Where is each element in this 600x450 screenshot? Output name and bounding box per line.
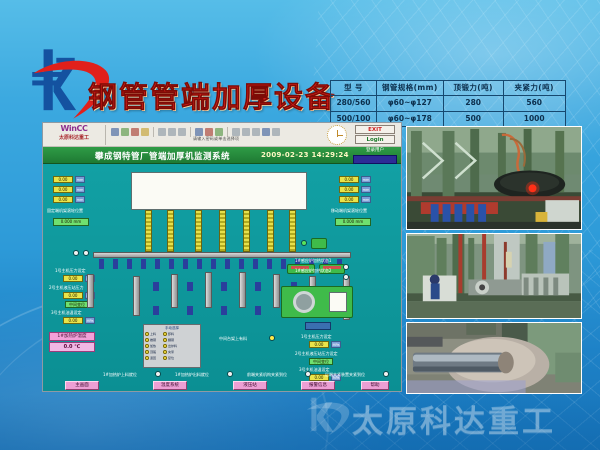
fitting-3 xyxy=(221,282,227,291)
press-caption-3: 3号主机油温设定 xyxy=(51,310,82,315)
switch-label: 推钢 xyxy=(150,338,156,342)
press-value-3[interactable]: 0.00 xyxy=(63,317,83,324)
valve-lamp-2 xyxy=(83,250,89,256)
undo-icon[interactable] xyxy=(195,128,203,136)
cylinder-2 xyxy=(133,276,140,316)
fitting-2 xyxy=(187,282,193,291)
cylinder-4 xyxy=(205,272,212,308)
hydraulic-block xyxy=(305,322,331,330)
center-stock-lamp xyxy=(269,335,275,341)
status-label-2: 1#感应炉加热状态2 xyxy=(295,268,331,273)
switch-lamp-icon xyxy=(145,356,149,360)
right-press-value-2: 中间变位 xyxy=(309,358,333,365)
nav-button-main[interactable]: 主画面 xyxy=(65,381,99,390)
roller-9 xyxy=(211,259,216,269)
roller-7 xyxy=(183,259,188,269)
hmi-process-canvas[interactable]: 0.00 mm 0.00 mm 0.00 mm 固定端机架滚轮位置 0.000 … xyxy=(43,164,401,391)
roller-8 xyxy=(197,259,202,269)
spec-header-size: 钢管规格(mm) xyxy=(377,81,444,96)
roller-6 xyxy=(169,259,174,269)
wincc-logo: WinCC 太原科达重工 xyxy=(46,124,102,146)
left-pos-unit-1: mm xyxy=(75,176,85,183)
press-value-2[interactable]: 0.00 xyxy=(63,292,83,299)
photo-pipe-end xyxy=(406,322,582,394)
switch-lamp-icon xyxy=(163,344,167,348)
hmi-datetime: 2009-02-23 14:29:24 xyxy=(261,151,349,159)
status-lamp-2 xyxy=(343,274,349,280)
fitting-6 xyxy=(153,306,159,315)
hmi-screenshot: WinCC 太原科达重工 请输入密码或单击选择项 xyxy=(42,122,402,392)
layer-icon[interactable] xyxy=(242,128,250,136)
upsetter-ring-icon xyxy=(293,291,315,313)
bottom-status-label-1: 1#加热炉上料就位 xyxy=(103,372,137,377)
switch-label: 上料 xyxy=(150,332,156,336)
zoom-icon[interactable] xyxy=(215,128,223,136)
switch-lamp-icon xyxy=(163,356,167,360)
right-group-caption: 移动端机架滚轮位置 xyxy=(331,208,367,213)
bottom-status-lamp-3 xyxy=(305,371,311,377)
left-group-readout: 0.000 mm xyxy=(53,218,89,226)
spec-r0-model: 280/560 xyxy=(331,96,377,111)
fitting-1 xyxy=(153,282,159,291)
motor-status-lamp xyxy=(301,240,307,246)
heating-column-6 xyxy=(267,210,274,252)
heating-column-4 xyxy=(219,210,226,252)
press-value-1[interactable]: 0.00 xyxy=(63,275,83,282)
hmi-company-label: 太原科达重工 xyxy=(46,134,102,142)
right-press-unit-1: MPa xyxy=(331,341,341,348)
roller-14 xyxy=(281,259,286,269)
spec-header-model: 型 号 xyxy=(331,81,377,96)
open-folder-icon[interactable] xyxy=(121,128,129,136)
valve-lamp-1 xyxy=(73,250,79,256)
left-pos-value-2[interactable]: 0.00 xyxy=(53,186,73,193)
press-caption-2: 2号主机液压站压力 xyxy=(49,285,84,290)
cut-icon[interactable] xyxy=(158,128,166,136)
spec-header-upset: 顶锻力(吨) xyxy=(443,81,503,96)
spec-r0-size: φ60~φ127 xyxy=(377,96,444,111)
switch-label: 退回 xyxy=(150,356,156,360)
right-pos-value-3[interactable]: 0.00 xyxy=(339,196,359,203)
heating-column-7 xyxy=(289,210,296,252)
heating-column-3 xyxy=(195,210,202,252)
switch-lamp-icon xyxy=(163,338,167,342)
left-pos-unit-2: mm xyxy=(75,186,85,193)
bottom-status-label-2: 1#加热炉出料就位 xyxy=(175,372,209,377)
hmi-title-bar: 攀成钢特管厂管端加厚机监测系统 2009-02-23 14:29:24 登录用户 xyxy=(43,147,401,164)
bottom-status-lamp-1 xyxy=(155,371,161,377)
table-row: 280/560 φ60~φ127 280 560 xyxy=(331,96,566,111)
switch-label: 卸料 xyxy=(168,332,174,336)
switch-lamp-icon xyxy=(145,338,149,342)
toolbar-hint-text: 请输入密码或单击选择项 xyxy=(193,136,239,142)
new-file-icon[interactable] xyxy=(111,128,119,136)
toolbar-divider xyxy=(105,125,106,145)
switch-lamp-icon xyxy=(163,332,167,336)
heating-column-2 xyxy=(167,210,174,252)
hmi-user-field[interactable] xyxy=(353,155,397,164)
toolbar-separator-2 xyxy=(190,127,191,137)
right-pos-unit-3: mm xyxy=(361,196,371,203)
settings-icon[interactable] xyxy=(252,128,260,136)
furnace-body xyxy=(131,172,307,210)
right-press-caption-1: 1号主机压力设定 xyxy=(301,334,332,339)
press-unit-3: MPa xyxy=(85,317,95,324)
bottom-band xyxy=(0,394,600,450)
cylinder-6 xyxy=(273,274,280,308)
clock-icon xyxy=(327,125,347,145)
switch-label: 夹紧 xyxy=(168,350,174,354)
save-icon[interactable] xyxy=(131,128,139,136)
bottom-status-lamp-2 xyxy=(227,371,233,377)
fitting-4 xyxy=(255,282,261,291)
press-caption-1: 1号主机压力设定 xyxy=(55,268,86,273)
toolbar-separator-1 xyxy=(153,127,154,137)
photo-rolling-line xyxy=(406,126,582,230)
left-pos-value-1[interactable]: 0.00 xyxy=(53,176,73,183)
heater-title: 1#加热炉温度 xyxy=(49,332,95,341)
heating-column-5 xyxy=(243,210,250,252)
roller-12 xyxy=(253,259,258,269)
print-icon[interactable] xyxy=(141,128,149,136)
clock-hand-hour xyxy=(337,135,343,136)
switch-lamp-icon xyxy=(145,350,149,354)
right-pos-unit-1: mm xyxy=(361,176,371,183)
right-pos-value-1[interactable]: 0.00 xyxy=(339,176,359,183)
roller-1 xyxy=(99,259,104,269)
spec-r1-clamp: 1000 xyxy=(503,111,565,126)
nav-button-temp[interactable]: 温度系统 xyxy=(153,381,187,390)
heating-column-1 xyxy=(145,210,152,252)
spec-table-header-row: 型 号 钢管规格(mm) 顶锻力(吨) 夹紧力(吨) xyxy=(331,81,566,96)
roller-3 xyxy=(127,259,132,269)
right-pos-unit-2: mm xyxy=(361,186,371,193)
right-press-caption-2: 2号主机液压站压力设定 xyxy=(295,351,338,356)
manual-switch-panel[interactable]: 手动选择 上料 卸料 推钢 翻钢 加热 出炉料 顶锻 xyxy=(143,324,201,368)
spec-table: 型 号 钢管规格(mm) 顶锻力(吨) 夹紧力(吨) 280/560 φ60~φ… xyxy=(330,80,566,127)
right-pos-value-2[interactable]: 0.00 xyxy=(339,186,359,193)
left-group-caption: 固定端机架滚轮位置 xyxy=(47,208,83,213)
heater-value: 0.0 ℃ xyxy=(49,342,95,352)
switch-label: 顶锻 xyxy=(150,350,156,354)
page-title: 钢管管端加厚设备 xyxy=(88,74,336,116)
stop-icon[interactable] xyxy=(272,128,280,136)
list-item[interactable]: 退回 复位 xyxy=(144,355,200,361)
press-sub-label: 中间变位 xyxy=(65,301,89,308)
center-stock-label: 中间台架上有料 xyxy=(219,336,247,341)
photo-rolling-line-image xyxy=(407,127,581,230)
switch-lamp-icon xyxy=(145,344,149,348)
nav-button-alarm[interactable]: 报警信息 xyxy=(301,381,335,390)
switch-label: 出炉料 xyxy=(168,344,177,348)
status-label-1: 1#感应炉加热状态1 xyxy=(295,258,331,263)
switch-label: 加热 xyxy=(150,344,156,348)
page-header: 钢管管端加厚设备 型 号 钢管规格(mm) 顶锻力(吨) 夹紧力(吨) 280/… xyxy=(0,28,600,108)
cylinder-5 xyxy=(239,272,246,308)
left-pos-value-3[interactable]: 0.00 xyxy=(53,196,73,203)
run-icon[interactable] xyxy=(262,128,270,136)
roller-13 xyxy=(267,259,272,269)
redo-icon[interactable] xyxy=(205,128,213,136)
copy-icon[interactable] xyxy=(168,128,176,136)
bottom-status-lamp-4 xyxy=(383,371,389,377)
spec-r0-clamp: 560 xyxy=(503,96,565,111)
switch-lamp-icon xyxy=(145,332,149,336)
drive-motor xyxy=(311,238,327,249)
roller-11 xyxy=(239,259,244,269)
fitting-8 xyxy=(221,306,227,315)
roller-4 xyxy=(141,259,146,269)
hmi-system-title: 攀成钢特管厂管端加厚机监测系统 xyxy=(95,150,230,162)
upsetter-window xyxy=(329,292,347,312)
bottom-status-label-4: 后端夹紧装置夹紧到位 xyxy=(325,372,365,377)
switch-label: 翻钢 xyxy=(168,338,174,342)
bottom-status-label-3: 前端夹紧机构夹紧到位 xyxy=(247,372,287,377)
exit-button[interactable]: EXIT xyxy=(355,125,395,134)
hmi-user-label: 登录用户 xyxy=(353,148,397,154)
roller-10 xyxy=(225,259,230,269)
roller-5 xyxy=(155,259,160,269)
cylinder-3 xyxy=(171,274,178,308)
photo-press-machine-image xyxy=(407,234,581,319)
roller-2 xyxy=(113,259,118,269)
photo-press-machine xyxy=(406,233,582,319)
spec-r0-upset: 280 xyxy=(443,96,503,111)
cylinder-1 xyxy=(87,274,94,308)
right-press-value-1[interactable]: 0.00 xyxy=(309,341,329,348)
login-button[interactable]: Login xyxy=(355,135,395,144)
status-lamp-1 xyxy=(343,264,349,270)
fitting-7 xyxy=(187,306,193,315)
photo-pipe-end-image xyxy=(407,323,581,394)
hmi-toolbar: WinCC 太原科达重工 请输入密码或单击选择项 xyxy=(43,123,401,147)
left-pos-unit-3: mm xyxy=(75,196,85,203)
grid-icon[interactable] xyxy=(232,128,240,136)
spec-r1-upset: 500 xyxy=(443,111,503,126)
nav-button-hydr[interactable]: 液压站 xyxy=(233,381,267,390)
fitting-9 xyxy=(255,306,261,315)
spec-header-clamp: 夹紧力(吨) xyxy=(503,81,565,96)
paste-icon[interactable] xyxy=(178,128,186,136)
right-group-readout: 0.000 mm xyxy=(335,218,371,226)
nav-button-help[interactable]: 帮助 xyxy=(361,381,389,390)
switch-lamp-icon xyxy=(163,350,167,354)
wincc-label: WinCC xyxy=(46,124,102,134)
switch-label: 复位 xyxy=(168,356,174,360)
